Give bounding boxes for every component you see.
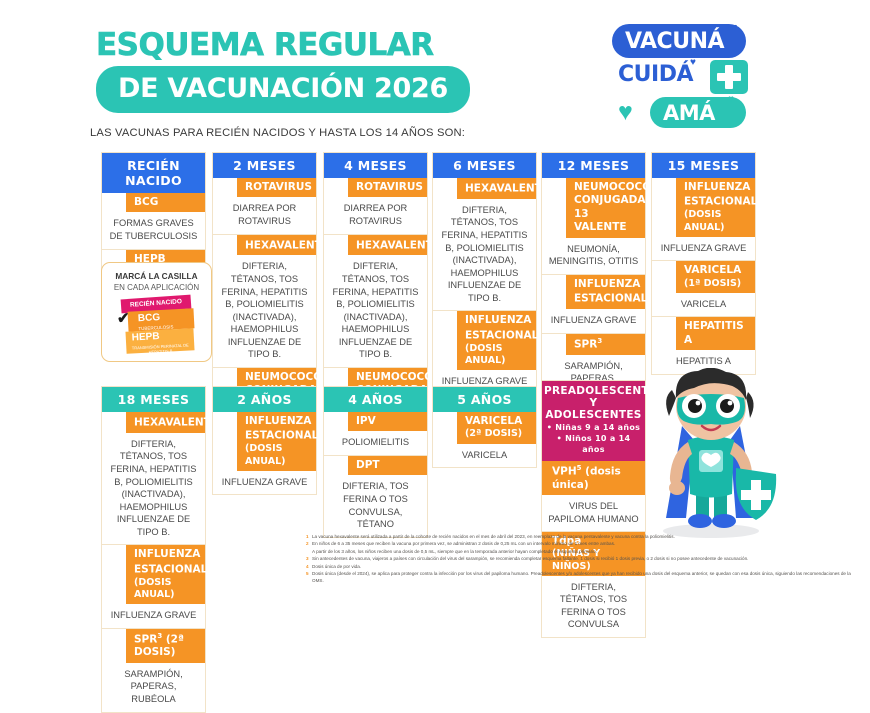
vaccine-description: DIARREA POR ROTAVIRUS xyxy=(324,197,427,234)
vaccine-description: DIFTERIA, TOS FERINA O TOS CONVULSA, TÉT… xyxy=(324,475,427,536)
vaccine-dose-label: (2ª DOSIS) xyxy=(465,428,531,440)
vaccine-description: DIFTERIA, TÉTANOS, TOS FERINA, HEPATITIS… xyxy=(324,255,427,367)
vaccine-dose-label: (DOSIS ANUAL) xyxy=(465,343,531,367)
footnote-item: 1La vacuna hexavalente será utilizada a … xyxy=(306,534,854,541)
schedule-column-4-a-os: 4 AÑOSIPVPOLIOMIELITISDPTDIFTERIA, TOS F… xyxy=(323,386,428,538)
vaccine-description: POLIOMIELITIS xyxy=(324,431,427,456)
footnote-item: 4Dosis única de por vida. xyxy=(306,564,854,571)
vaccine-description: DIFTERIA, TÉTANOS, TOS FERINA, HEPATITIS… xyxy=(102,433,205,545)
vaccine-dose-label: (DOSIS ANUAL) xyxy=(134,577,200,601)
vaccine-description: INFLUENZA GRAVE xyxy=(102,604,205,629)
vaccine-description: FORMAS GRAVES DE TUBERCULOSIS xyxy=(102,212,205,249)
vaccine-name-bar: INFLUENZA ESTACIONAL2(DOSIS ANUAL) xyxy=(237,412,316,471)
vaccine-description: INFLUENZA GRAVE xyxy=(652,237,755,262)
vaccine-description: INFLUENZA GRAVE xyxy=(542,309,645,334)
footnote-text: Sin antecedentes de vacuna, viajeros a p… xyxy=(312,556,854,563)
column-header: RECIÉN NACIDO xyxy=(102,153,205,193)
footnotes-list: 1La vacuna hexavalente será utilizada a … xyxy=(306,534,854,585)
footnote-item: A partir de los 3 años, los niños recibe… xyxy=(306,549,854,556)
mini-card-hepb-desc: TRANSMISIÓN PERINATAL DE HEPATITIS B xyxy=(126,342,194,356)
footnote-text: A partir de los 3 años, los niños recibe… xyxy=(312,549,854,556)
schedule-column-15-meses: 15 MESESINFLUENZA ESTACIONAL2(DOSIS ANUA… xyxy=(651,152,756,375)
vaccine-name-bar: DPT xyxy=(348,456,427,475)
vaccine-name-bar: INFLUENZA ESTACIONAL2(DOSIS ANUAL) xyxy=(126,545,205,604)
vaccine-name-bar: NEUMOCOCO CONJUGADA 13 VALENTE xyxy=(566,178,645,238)
column-header: 2 MESES xyxy=(213,153,316,178)
column-header: PREADOLESCENTES Y ADOLESCENTES• Niñas 9 … xyxy=(542,381,645,461)
footnote-superscript: 2 xyxy=(207,562,212,570)
footnote-superscript: 2 xyxy=(757,194,762,202)
column-header: 4 AÑOS xyxy=(324,387,427,412)
footnote-text: La vacuna hexavalente será utilizada a p… xyxy=(312,534,854,541)
footnote-text: En niños de 6 a 35 meses que reciben la … xyxy=(312,541,854,548)
vaccine-name-bar: IPV xyxy=(348,412,427,431)
column-header: 15 MESES xyxy=(652,153,755,178)
footnote-superscript: 3 xyxy=(597,337,602,345)
vaccine-dose-label: (DOSIS ANUAL) xyxy=(245,443,311,467)
vaccine-description: DIFTERIA, TÉTANOS, TOS FERINA, HEPATITIS… xyxy=(213,255,316,367)
vaccine-name-bar: HEXAVALENTE1 xyxy=(457,178,536,199)
vaccine-description: VARICELA xyxy=(652,293,755,318)
vaccine-name-bar: BCG xyxy=(126,193,205,212)
vaccine-name-bar: VARICELA(1ª DOSIS) xyxy=(676,261,755,293)
footnote-superscript: 5 xyxy=(577,464,582,472)
mini-card-row-hepb: HEPB TRANSMISIÓN PERINATAL DE HEPATITIS … xyxy=(125,328,194,354)
vaccine-name-bar: HEXAVALENTE1 xyxy=(126,412,205,433)
vaccine-description: VARICELA xyxy=(433,444,536,468)
footnote-item: 2En niños de 6 a 35 meses que reciben la… xyxy=(306,541,854,548)
column-header: 6 MESES xyxy=(433,153,536,178)
column-header: 12 MESES xyxy=(542,153,645,178)
column-header: 18 MESES xyxy=(102,387,205,412)
vaccine-description: INFLUENZA GRAVE xyxy=(213,471,316,495)
footnote-text: Dosis única de por vida. xyxy=(312,564,854,571)
schedule-column-5-a-os: 5 AÑOSVARICELA(2ª DOSIS)VARICELA xyxy=(432,386,537,468)
vaccine-description: VIRUS DEL PAPILOMA HUMANO xyxy=(542,495,645,532)
vaccine-description: DIARREA POR ROTAVIRUS xyxy=(213,197,316,234)
mark-checkbox-callout: MARCÁ LA CASILLA EN CADA APLICACIÓN RECI… xyxy=(101,262,212,362)
column-header: 2 AÑOS xyxy=(213,387,316,412)
vaccine-name-bar: ROTAVIRUS xyxy=(348,178,427,197)
schedule-column-2-a-os: 2 AÑOSINFLUENZA ESTACIONAL2(DOSIS ANUAL)… xyxy=(212,386,317,495)
checkmark-icon: ✔ xyxy=(117,311,130,327)
vaccine-description: NEUMONÍA, MENINGITIS, OTITIS xyxy=(542,238,645,275)
column-header: 4 MESES xyxy=(324,153,427,178)
vaccine-name-bar: INFLUENZA ESTACIONAL2 xyxy=(566,275,645,309)
callout-mini-card: RECIÉN NACIDO BCG TUBERCULOSIS HEPB TRAN… xyxy=(118,297,198,355)
vaccine-dose-label: (1ª DOSIS) xyxy=(684,278,750,290)
vaccine-name-bar: SPR3 (2ª DOSIS) xyxy=(126,629,205,663)
vaccine-name-bar: INFLUENZA ESTACIONAL2(DOSIS ANUAL) xyxy=(457,311,536,370)
vaccine-name-bar: HEPATITIS A xyxy=(676,317,755,350)
vaccine-name-bar: SPR3 xyxy=(566,334,645,355)
vaccine-name-bar: VPH5 (dosis única) xyxy=(542,461,645,495)
schedule-column-preadolescentes-y-adolescentes: PREADOLESCENTES Y ADOLESCENTES• Niñas 9 … xyxy=(541,380,646,638)
footnote-item: 3Sin antecedentes de vacuna, viajeros a … xyxy=(306,556,854,563)
footnote-text: Dosis única (desde el 2024), se aplica p… xyxy=(312,571,854,585)
vaccine-name-bar: INFLUENZA ESTACIONAL2(DOSIS ANUAL) xyxy=(676,178,755,237)
vaccine-name-bar: VARICELA(2ª DOSIS) xyxy=(457,412,536,444)
vaccine-description: SARAMPIÓN, PAPERAS, RUBÉOLA xyxy=(102,663,205,712)
footnote-item: 5Dosis única (desde el 2024), se aplica … xyxy=(306,571,854,585)
callout-subtitle: EN CADA APLICACIÓN xyxy=(102,283,211,292)
schedule-column-6-meses: 6 MESESHEXAVALENTE1DIFTERIA, TÉTANOS, TO… xyxy=(432,152,537,395)
column-header-title: PREADOLESCENTES Y ADOLESCENTES xyxy=(544,385,643,421)
schedule-column-18-meses: 18 MESESHEXAVALENTE1DIFTERIA, TÉTANOS, T… xyxy=(101,386,206,713)
vaccine-description: DIFTERIA, TÉTANOS, TOS FERINA, HEPATITIS… xyxy=(433,199,536,311)
vaccine-name-bar: HEXAVALENTE1 xyxy=(348,235,427,256)
callout-title: MARCÁ LA CASILLA xyxy=(102,271,211,281)
vaccine-dose-label: (DOSIS ANUAL) xyxy=(684,209,750,233)
vaccine-name-bar: HEXAVALENTE1 xyxy=(237,235,316,256)
column-header: 5 AÑOS xyxy=(433,387,536,412)
column-header-sub-girls: • Niñas 9 a 14 años xyxy=(544,423,643,434)
footnote-superscript: 3 xyxy=(157,632,162,640)
vaccine-name-bar: ROTAVIRUS xyxy=(237,178,316,197)
column-header-sub-boys: • Niños 10 a 14 años xyxy=(544,434,643,456)
superhero-child-mascot xyxy=(636,368,786,540)
